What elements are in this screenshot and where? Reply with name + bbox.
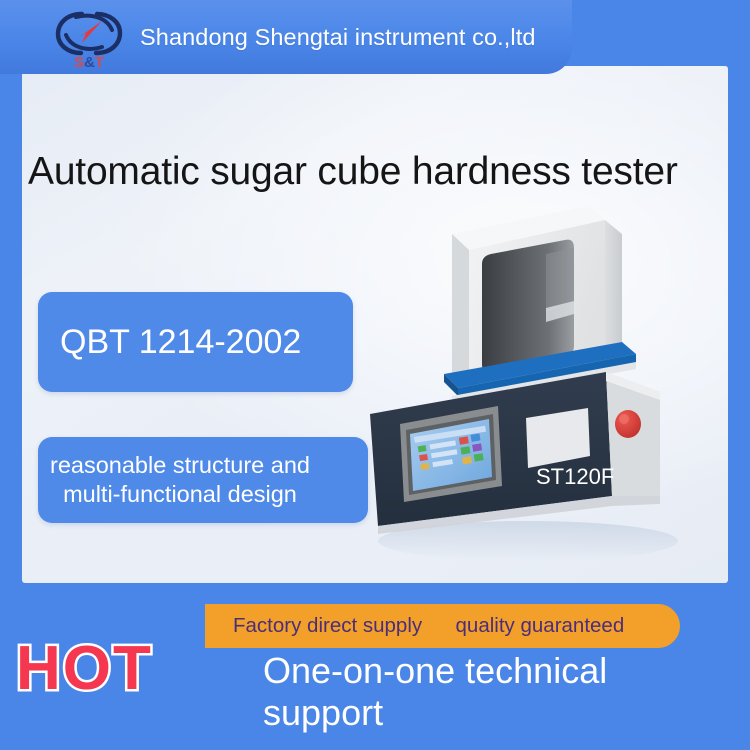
- product-photo: ST120F: [360, 196, 700, 566]
- promo-banner-text: Factory direct supply quality guaranteed: [233, 614, 624, 638]
- design-chip-line2: multi-functional design: [50, 480, 310, 509]
- swirl-arrow-logo-icon: S&T: [52, 4, 126, 70]
- header-bar: S&T Shandong Shengtai instrument co.,ltd: [0, 0, 572, 74]
- support-text: One-on-one technical support: [263, 650, 733, 735]
- standard-chip-label: QBT 1214-2002: [60, 323, 301, 362]
- left-background-strip: [0, 0, 22, 590]
- promo-banner-right: quality guaranteed: [456, 614, 625, 637]
- product-model-text: ST120F: [536, 464, 614, 489]
- design-chip: reasonable structure and multi-functiona…: [38, 437, 368, 523]
- page-title: Automatic sugar cube hardness tester: [28, 150, 728, 194]
- company-name: Shandong Shengtai instrument co.,ltd: [140, 24, 536, 51]
- right-background-strip: [728, 0, 750, 600]
- product-poster: S&T Shandong Shengtai instrument co.,ltd…: [0, 0, 750, 750]
- hot-badge: HOT: [16, 633, 153, 704]
- standard-chip: QBT 1214-2002: [38, 292, 353, 392]
- support-line1: One-on-one technical: [263, 650, 607, 691]
- promo-banner-left: Factory direct supply: [233, 614, 422, 637]
- support-line2: support: [263, 692, 733, 734]
- design-chip-line1: reasonable structure and: [50, 452, 310, 478]
- promo-banner: Factory direct supply quality guaranteed: [205, 604, 680, 648]
- svg-text:S&T: S&T: [74, 54, 104, 70]
